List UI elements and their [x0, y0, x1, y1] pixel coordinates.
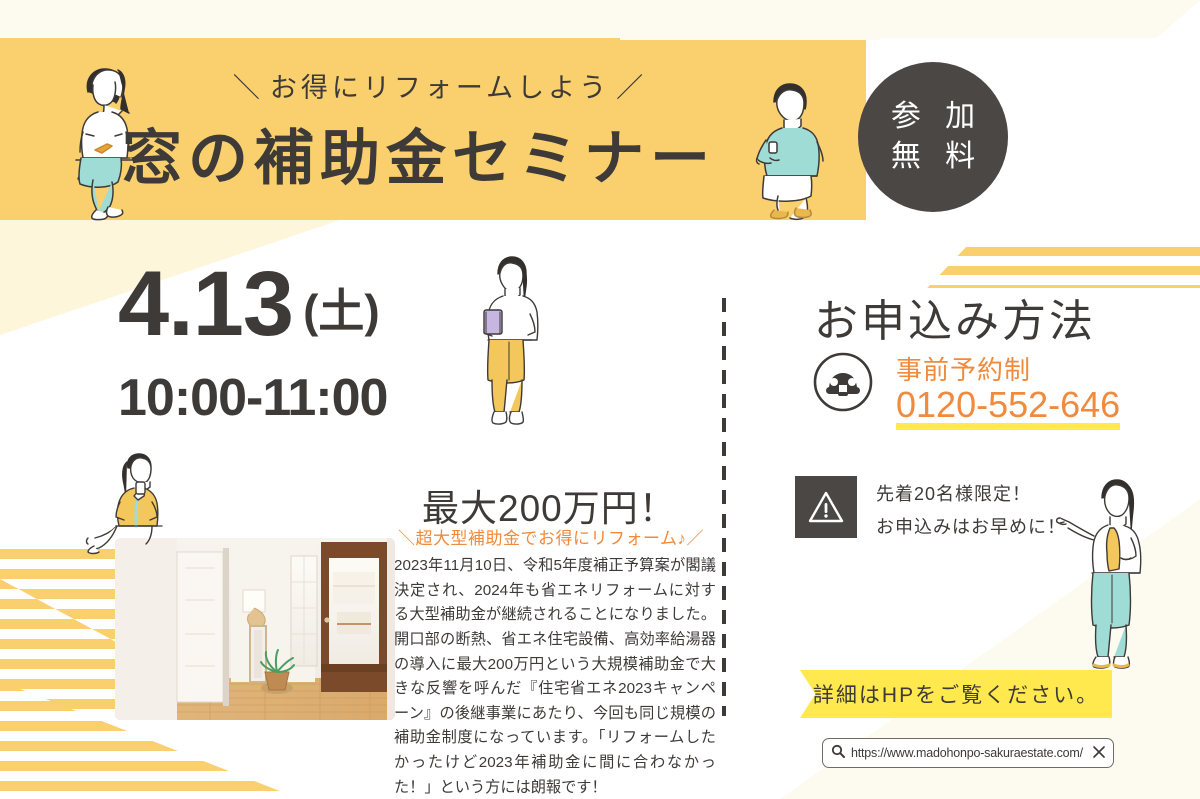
page-title: 窓の補助金セミナー	[122, 110, 762, 197]
apply-method-title: お申込み方法	[814, 285, 1096, 349]
warning-line-2: お申込みはお早めに！	[876, 511, 1066, 544]
poster-root: ＼ お得にリフォームしよう ／ 窓の補助金セミナー	[0, 0, 1200, 799]
header-kicker-text: お得にリフォームしよう	[270, 66, 610, 105]
warning-triangle-icon	[795, 476, 857, 538]
ribbon-text: 詳細はHPをご覧ください。	[800, 670, 1112, 718]
free-badge-line-1: 参 加	[883, 100, 983, 135]
header-kicker: ＼ お得にリフォームしよう ／	[200, 66, 680, 105]
search-icon	[831, 744, 845, 763]
url-search-pill[interactable]: https://www.madohonpo-sakuraestate.com/	[822, 738, 1114, 768]
free-participation-badge: 参 加 無 料	[858, 62, 1008, 212]
vertical-dashed-divider	[722, 298, 726, 716]
man-sitting-phone-illustration	[748, 80, 844, 220]
woman-standing-book-illustration	[470, 254, 550, 432]
subsidy-body-copy: 2023年11月10日、令和5年度補正予算案が閣議決定され、2024年も省エネリ…	[394, 554, 716, 799]
slash-right-icon: ／	[616, 66, 647, 105]
house-entryway-interior-photo	[115, 538, 395, 720]
close-icon[interactable]	[1093, 746, 1105, 761]
event-date: 4.13(土)	[118, 258, 380, 350]
top-cream-strip	[0, 0, 1200, 38]
warning-text: 先着20名様限定！ お申込みはお早めに！	[876, 478, 1066, 545]
max-amount-subheadline: ＼超大型補助金でお得にリフォーム♪／	[398, 524, 704, 549]
telephone-icon	[812, 351, 874, 413]
event-time: 10:00-11:00	[118, 372, 387, 424]
event-date-number: 4.13	[118, 253, 293, 355]
warning-line-1: 先着20名様限定！	[876, 478, 1066, 511]
url-text: https://www.madohonpo-sakuraestate.com/	[851, 746, 1087, 760]
free-badge-line-2: 無 料	[883, 140, 983, 175]
reservation-note: 事前予約制	[896, 350, 1031, 387]
slash-left-icon: ＼	[233, 66, 264, 105]
header-cream-wedge	[620, 0, 880, 40]
phone-number[interactable]: 0120-552-646	[896, 384, 1120, 430]
event-day-of-week: (土)	[303, 285, 380, 337]
woman-sitting-drinking-illustration	[86, 452, 196, 562]
woman-pointing-illustration	[1058, 468, 1176, 683]
